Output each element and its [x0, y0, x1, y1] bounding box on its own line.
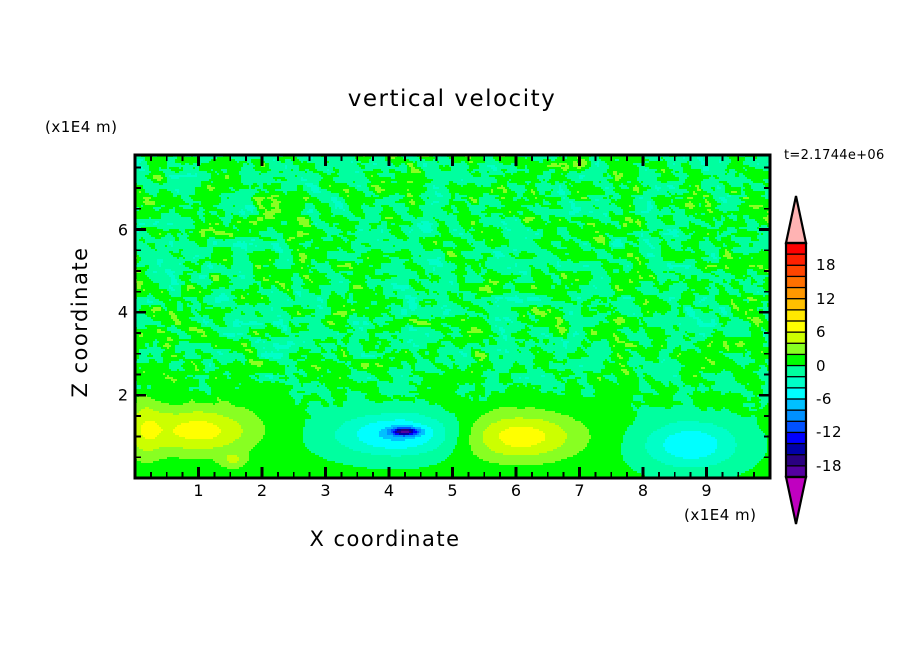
x-tick-label: 1 — [193, 481, 203, 500]
x-tick-label: 4 — [384, 481, 394, 500]
colorbar-under-cap — [786, 477, 806, 524]
colorbar-tick-label: -6 — [816, 390, 832, 408]
colorbar-tick-label: 12 — [816, 290, 836, 308]
contour-field — [135, 155, 772, 480]
x-tick-label: 8 — [638, 481, 648, 500]
y-tick-label: 2 — [98, 386, 128, 405]
x-tick-label: 7 — [574, 481, 584, 500]
colorbar-over-cap — [786, 196, 806, 243]
y-tick-label: 6 — [98, 220, 128, 239]
x-tick-label: 5 — [447, 481, 457, 500]
colorbar-tick-label: -18 — [816, 457, 842, 475]
y-tick-label: 4 — [98, 303, 128, 322]
contour-plot-figure: vertical velocity (x1E4 m) (x1E4 m) t=2.… — [0, 0, 904, 654]
x-tick-label: 3 — [320, 481, 330, 500]
x-tick-label: 6 — [511, 481, 521, 500]
contour-field-canvas — [0, 0, 904, 654]
colorbar-tick-label: -12 — [816, 423, 842, 441]
colorbar — [786, 196, 806, 524]
colorbar-tick-label: 0 — [816, 357, 826, 375]
x-tick-label: 9 — [701, 481, 711, 500]
colorbar-tick-label: 18 — [816, 256, 836, 274]
x-tick-label: 2 — [257, 481, 267, 500]
colorbar-tick-label: 6 — [816, 323, 826, 341]
